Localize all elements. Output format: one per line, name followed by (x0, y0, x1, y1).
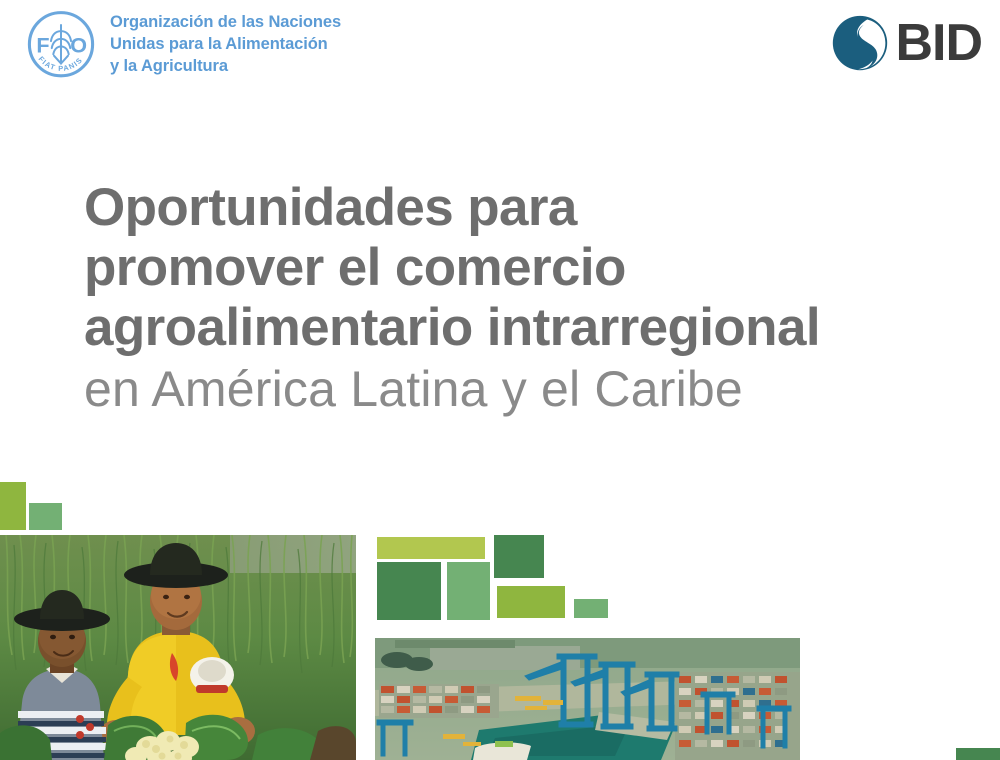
cover-title-block: Oportunidades para promover el comercio … (84, 178, 984, 420)
block-top-left-small (29, 503, 62, 530)
title-line-3: agroalimentario intrarregional (84, 298, 984, 358)
block-mosaic-mid (447, 562, 490, 620)
block-mosaic-dark (377, 562, 441, 620)
block-mosaic-olive (497, 586, 565, 618)
photo-farmers-illustration (0, 535, 356, 760)
block-bottom-right (956, 748, 1000, 760)
photo-port-illustration (375, 638, 800, 760)
bid-logo: BID (831, 14, 982, 72)
block-mosaic-bar (377, 537, 485, 559)
title-line-2: promover el comercio (84, 238, 984, 298)
fao-logo: F O FIAT PANIS Organización de las Nacio… (22, 8, 341, 82)
svg-text:O: O (70, 33, 87, 58)
cover-header: F O FIAT PANIS Organización de las Nacio… (0, 0, 1000, 110)
svg-text:F: F (36, 33, 49, 58)
photo-farmers (0, 535, 356, 760)
photo-port (375, 638, 800, 760)
title-subtitle: en América Latina y el Caribe (84, 358, 984, 420)
bid-globe-icon (831, 14, 889, 72)
fao-emblem-icon: F O FIAT PANIS (22, 8, 100, 82)
fao-organization-name: Organización de las Naciones Unidas para… (110, 12, 341, 78)
block-mosaic-small (574, 599, 608, 618)
bid-wordmark: BID (895, 17, 982, 69)
title-line-1: Oportunidades para (84, 178, 984, 238)
block-top-left-tall (0, 482, 26, 530)
block-mosaic-square (494, 535, 544, 578)
